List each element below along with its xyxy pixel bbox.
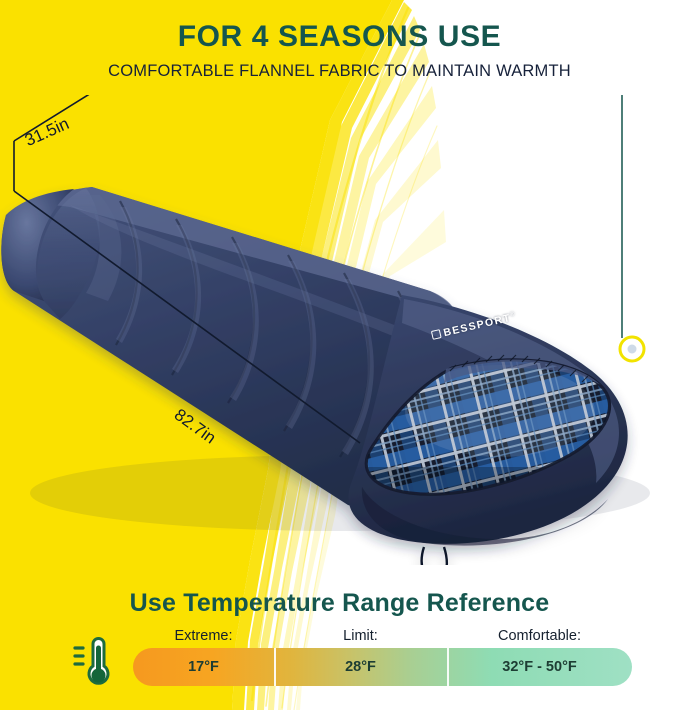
segment-divider-2: [447, 648, 449, 686]
page-title: FOR 4 SEASONS USE: [0, 20, 679, 54]
brand-registered-mark: ®: [510, 311, 517, 318]
page-subtitle: COMFORTABLE FLANNEL FABRIC TO MAINTAIN W…: [0, 62, 679, 81]
temperature-range-bar: 17°F 28°F 32°F - 50°F: [133, 648, 632, 686]
brand-mark-icon: [431, 329, 442, 340]
segment-divider-1: [274, 648, 276, 686]
temperature-value-comfortable: 32°F - 50°F: [447, 648, 632, 686]
temperature-label-limit: Limit:: [274, 628, 447, 644]
thermometer-icon: [66, 636, 110, 693]
temperature-section-title: Use Temperature Range Reference: [0, 589, 679, 618]
temperature-label-extreme: Extreme:: [133, 628, 274, 644]
temperature-value-limit: 28°F: [274, 648, 447, 686]
temperature-value-extreme: 17°F: [133, 648, 274, 686]
product-photo: [0, 95, 679, 565]
product-infographic: FOR 4 SEASONS USE COMFORTABLE FLANNEL FA…: [0, 0, 679, 710]
temperature-label-comfortable: Comfortable:: [447, 628, 632, 644]
